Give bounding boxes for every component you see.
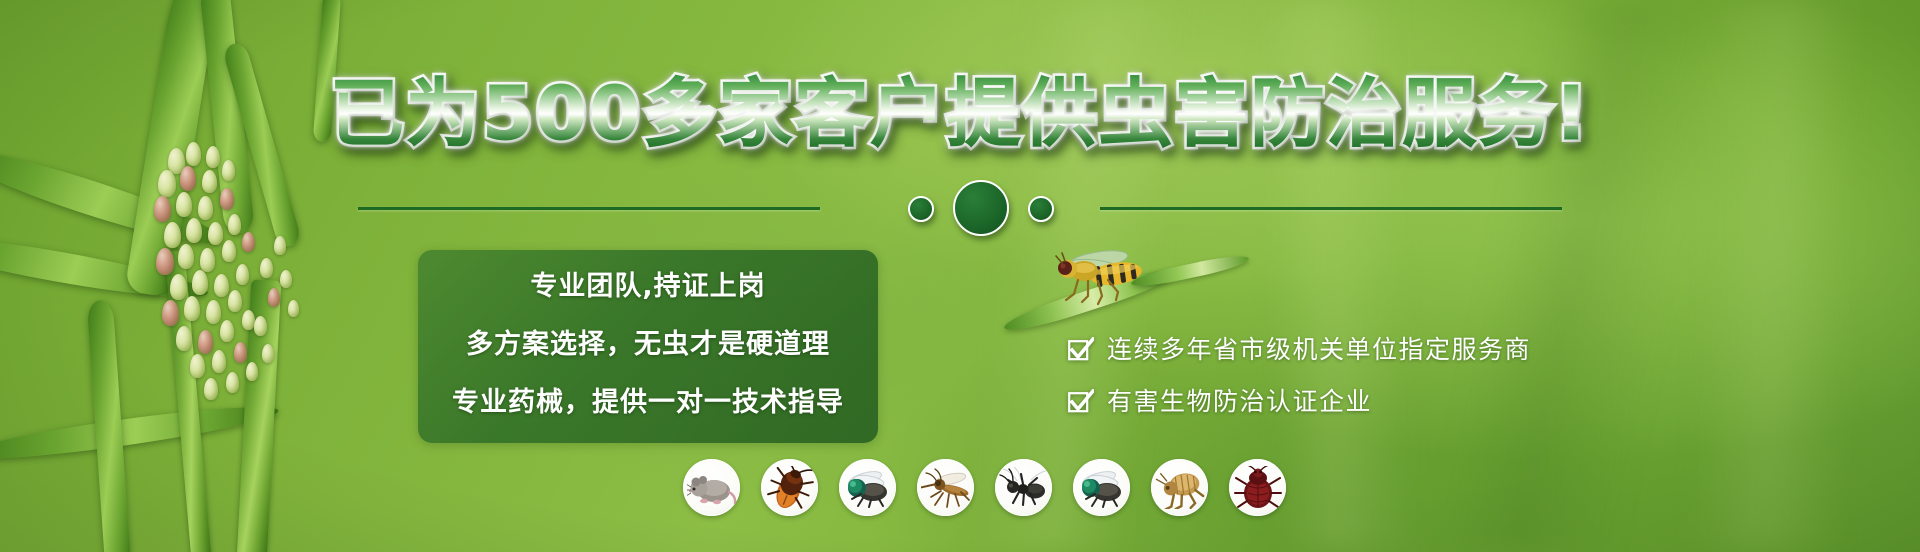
credentials-list: 连续多年省市级机关单位指定服务商 有害生物防治认证企业	[1068, 336, 1608, 440]
credential-text: 连续多年省市级机关单位指定服务商	[1107, 336, 1531, 364]
selling-points-panel: 专业团队,持证上岗 多方案选择，无虫才是硬道理 专业药械，提供一对一技术指导	[418, 250, 878, 443]
divider-left	[358, 207, 820, 210]
selling-point-3: 专业药械，提供一对一技术指导	[418, 386, 878, 420]
flea-icon[interactable]	[1151, 459, 1208, 516]
rat-icon[interactable]	[683, 459, 740, 516]
pest-icon-row	[683, 459, 1286, 516]
list-item: 有害生物防治认证企业	[1068, 388, 1608, 416]
selling-point-2: 多方案选择，无虫才是硬道理	[418, 328, 878, 362]
mosquito-icon[interactable]	[917, 459, 974, 516]
list-item: 连续多年省市级机关单位指定服务商	[1068, 336, 1608, 364]
headline-text: 已为500多家客户提供虫害防治服务!	[330, 72, 1590, 156]
hoverfly-icon	[1036, 244, 1156, 310]
credential-text: 有害生物防治认证企业	[1107, 388, 1372, 416]
decorative-dot-small-right	[1028, 196, 1054, 222]
fly-icon[interactable]	[839, 459, 896, 516]
divider-right	[1100, 207, 1562, 210]
decorative-dot-small-left	[908, 196, 934, 222]
cockroach-icon[interactable]	[761, 459, 818, 516]
fly-icon[interactable]	[1073, 459, 1130, 516]
page-title: 已为500多家客户提供虫害防治服务!	[0, 72, 1920, 156]
pest-control-hero-banner: 已为500多家客户提供虫害防治服务! 已为500多家客户提供虫害防治服务! 专业…	[0, 0, 1920, 552]
checkbox-checked-icon	[1068, 389, 1094, 415]
checkbox-checked-icon	[1068, 337, 1094, 363]
bedbug-icon[interactable]	[1229, 459, 1286, 516]
selling-point-1: 专业团队,持证上岗	[418, 270, 878, 304]
decorative-dot-large	[953, 180, 1009, 236]
ant-icon[interactable]	[995, 459, 1052, 516]
